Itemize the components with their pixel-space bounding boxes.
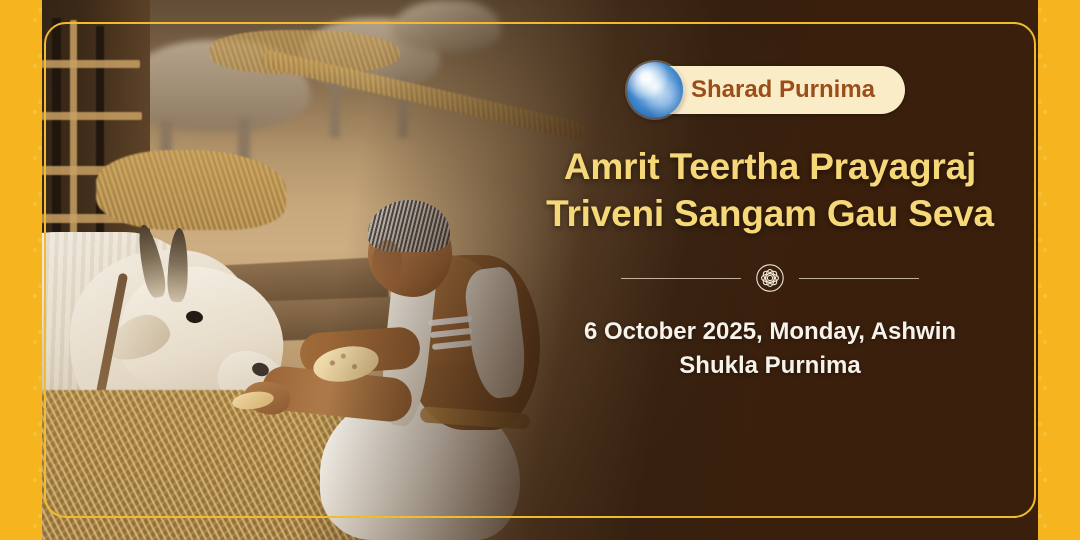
festival-badge: Sharad Purnima [635,62,905,118]
page-title: Amrit Teertha Prayagraj Triveni Sangam G… [546,144,994,237]
divider-line-right [799,278,919,279]
ornamental-divider [560,263,980,293]
event-date: 6 October 2025, Monday, Ashwin Shukla Pu… [584,315,956,383]
full-moon-icon [627,62,683,118]
divider-line-left [621,278,741,279]
banner-content: Sharad Purnima Amrit Teertha Prayagraj T… [520,0,1020,540]
right-scallop-pattern [1038,0,1080,540]
date-line-2: Shukla Purnima [584,349,956,383]
sharad-purnima-banner: Sharad Purnima Amrit Teertha Prayagraj T… [0,0,1080,540]
title-line-1: Amrit Teertha Prayagraj [546,144,994,191]
date-line-1: 6 October 2025, Monday, Ashwin [584,315,956,349]
left-scallop-pattern [0,0,42,540]
rosette-flower-icon [755,263,785,293]
title-line-2: Triveni Sangam Gau Seva [546,191,994,238]
